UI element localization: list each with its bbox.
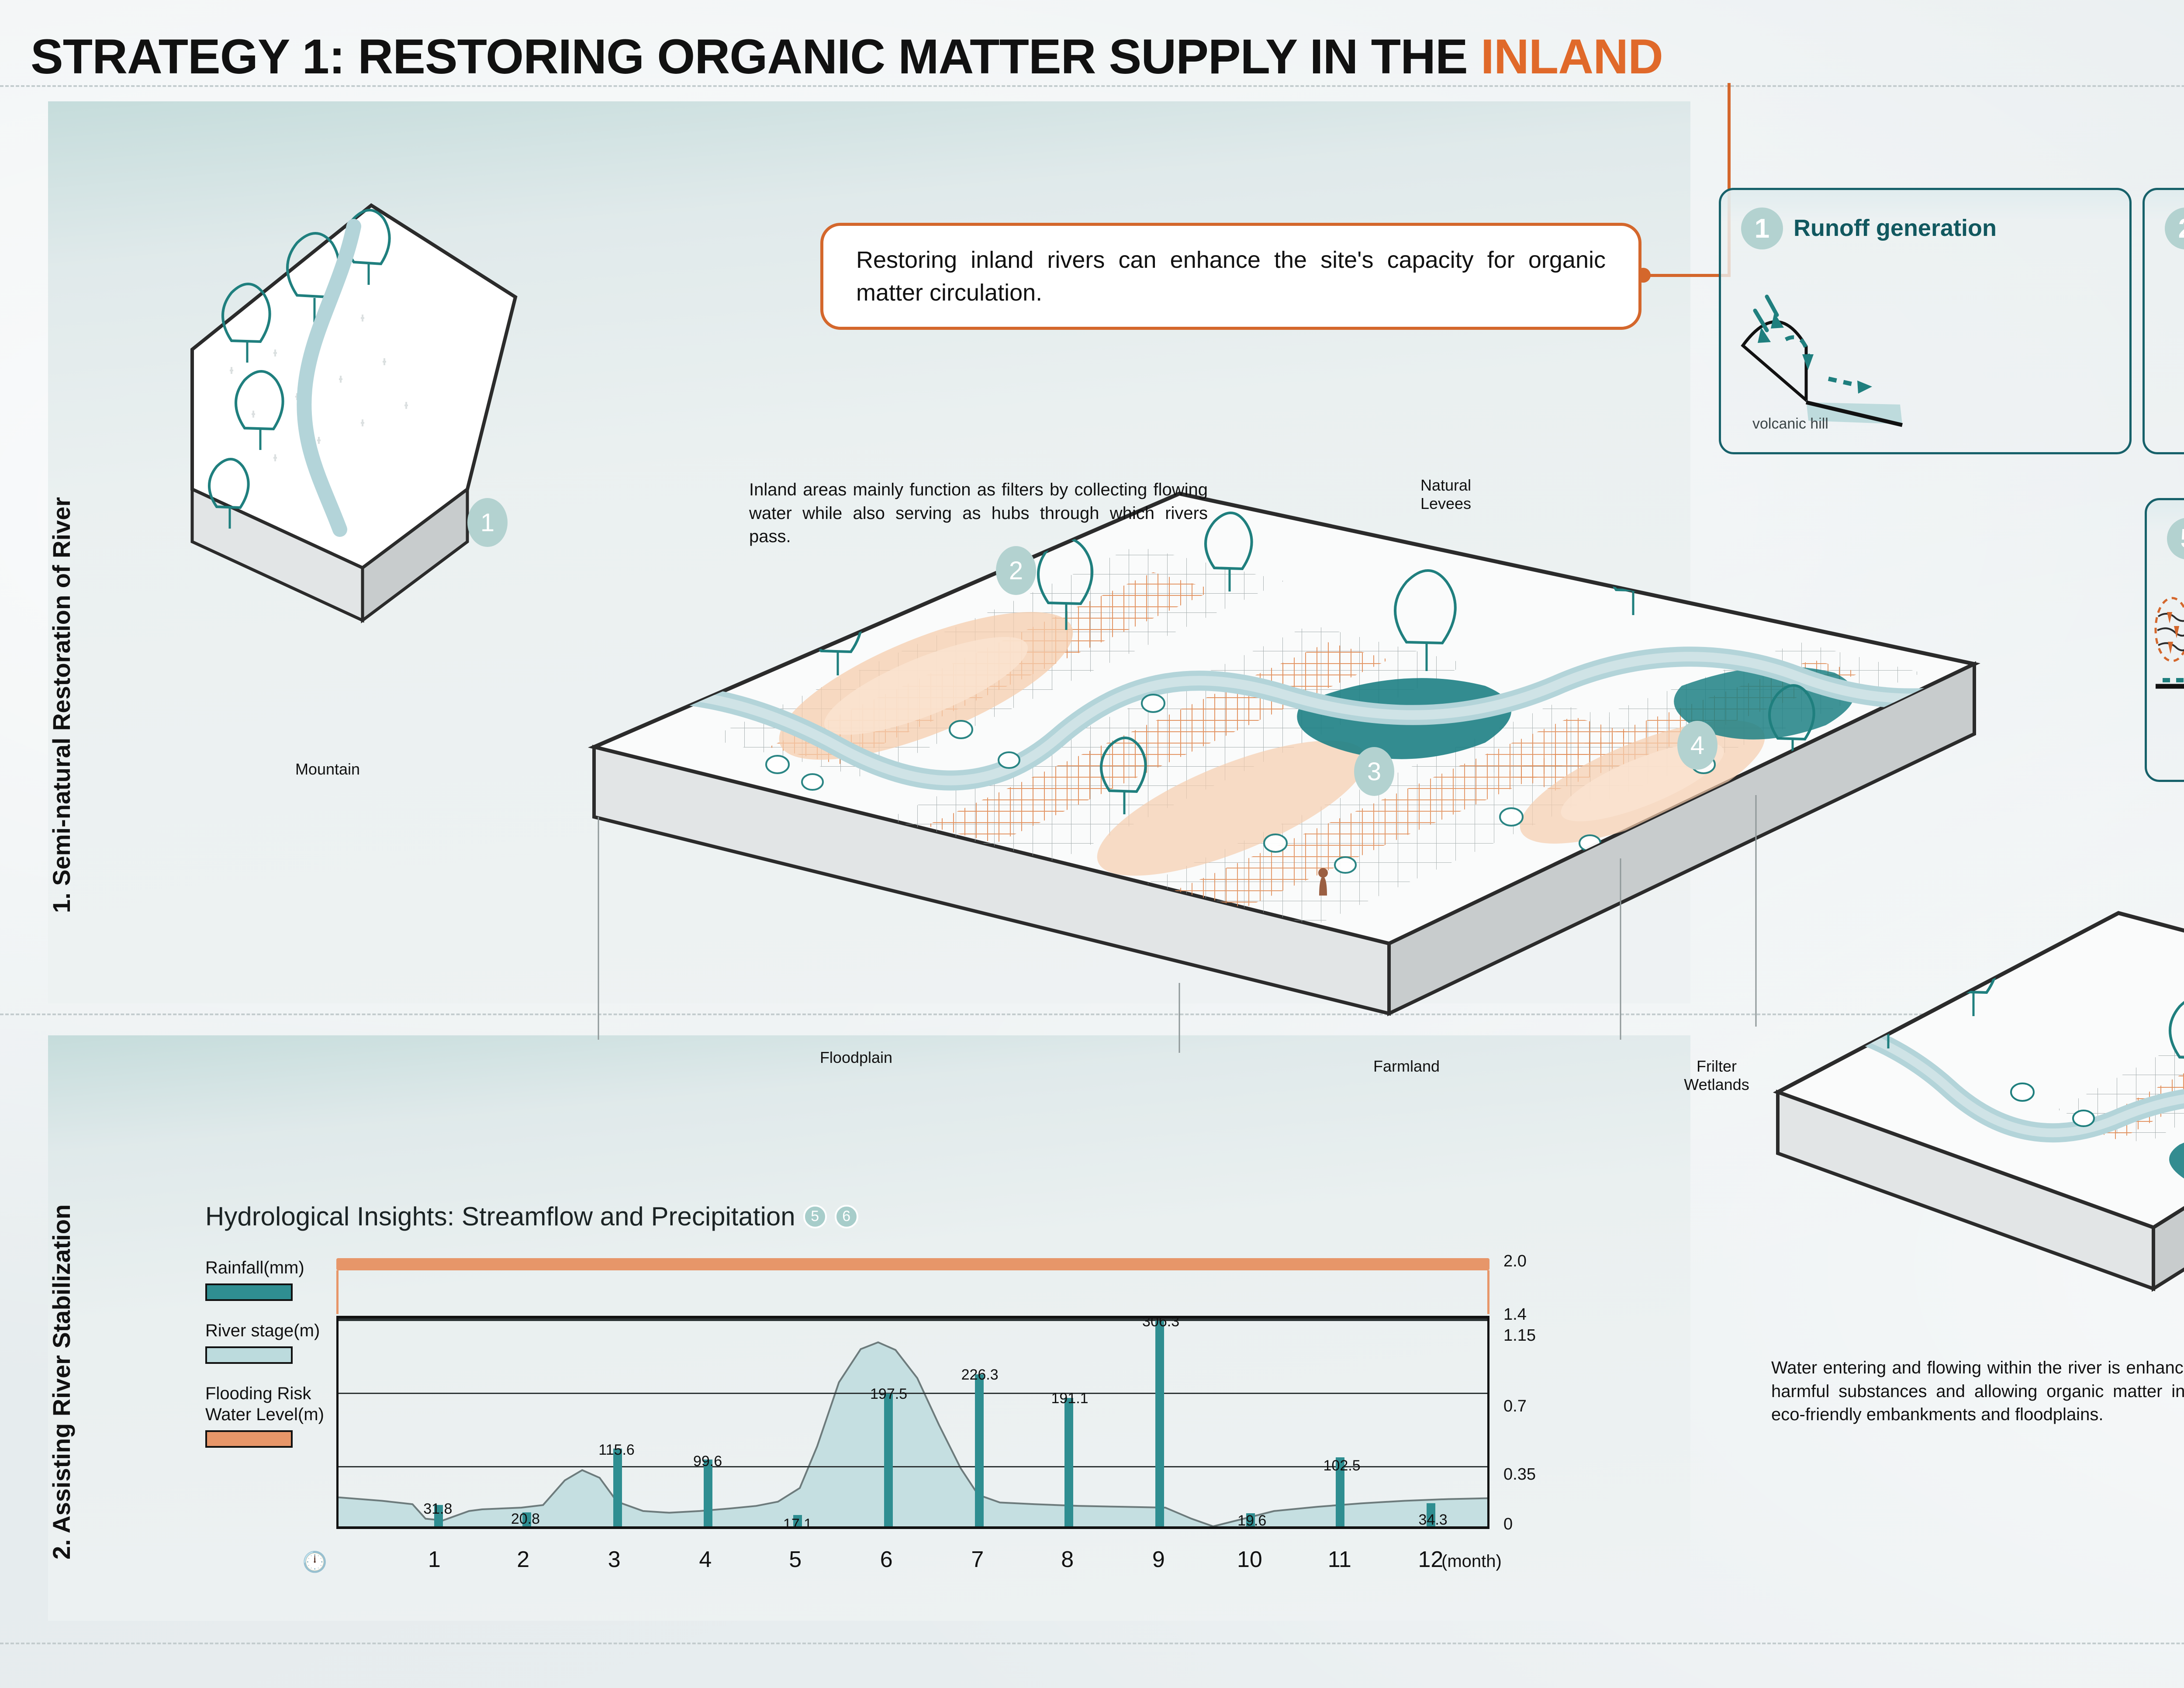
bar-month-7 bbox=[975, 1374, 984, 1526]
step-2-diagram bbox=[2145, 249, 2184, 446]
iso-note-top: Inland areas mainly function as filters … bbox=[749, 478, 1208, 549]
step-panel-2[interactable]: 2 Collected in wetlands bbox=[2143, 188, 2184, 454]
legend-item-rainfall: Rainfall(mm) bbox=[205, 1257, 336, 1301]
page-title-highlight: INLAND bbox=[1481, 29, 1663, 84]
flood-risk-threshold-bar bbox=[336, 1258, 1489, 1270]
legend-label-river-stage: River stage(m) bbox=[205, 1320, 336, 1341]
xtick-9: 9 bbox=[1152, 1546, 1165, 1573]
bar-label-month-1: 31.8 bbox=[423, 1501, 452, 1518]
bar-label-month-4: 99.6 bbox=[693, 1453, 722, 1470]
step-1-header: 1 Runoff generation bbox=[1721, 190, 2129, 249]
section-label-2: 2. Assisting River Stabilization bbox=[47, 1204, 76, 1560]
xtick-2: 2 bbox=[517, 1546, 529, 1573]
step-1-diagram: volcanic hill bbox=[1721, 249, 2129, 446]
bar-label-month-2: 20.8 bbox=[511, 1511, 540, 1528]
ytick-2.0: 2.0 bbox=[1503, 1252, 1527, 1271]
ytick-0: 0 bbox=[1503, 1515, 1513, 1534]
iso-marker-3: 3 bbox=[1354, 747, 1394, 796]
xtick-10: 10 bbox=[1237, 1546, 1262, 1573]
bar-label-month-10: 19.6 bbox=[1237, 1512, 1266, 1529]
xtick-6: 6 bbox=[880, 1546, 893, 1573]
gridline-1.15 bbox=[339, 1393, 1487, 1394]
wetland-diagram-icon bbox=[2145, 249, 2184, 442]
iso-marker-1: 1 bbox=[467, 498, 508, 547]
legend-label-flood-risk: Flooding Risk Water Level(m) bbox=[205, 1383, 332, 1425]
chart-badge-5: 5 bbox=[803, 1205, 827, 1228]
xtick-5: 5 bbox=[789, 1546, 802, 1573]
bar-month-3 bbox=[613, 1449, 622, 1526]
iso-marker-2: 2 bbox=[996, 546, 1036, 595]
bar-month-8 bbox=[1064, 1398, 1073, 1526]
page-title-main: STRATEGY 1: RESTORING ORGANIC MATTER SUP… bbox=[31, 29, 1481, 84]
iso-label-natural-levees: Natural Levees bbox=[1389, 476, 1503, 513]
iso-note-bottom: Water entering and flowing within the ri… bbox=[1771, 1356, 2184, 1427]
iso-label-mountain: Mountain bbox=[266, 760, 389, 778]
chart-legend: Rainfall(mm) River stage(m) Flooding Ris… bbox=[205, 1257, 336, 1467]
chart-badge-6: 6 bbox=[835, 1205, 858, 1228]
legend-label-rainfall: Rainfall(mm) bbox=[205, 1257, 336, 1278]
bar-label-month-5: 17.1 bbox=[783, 1516, 812, 1533]
flood-risk-tick-right bbox=[1487, 1270, 1489, 1314]
step-panel-1[interactable]: 1 Runoff generation volcanic hill bbox=[1719, 188, 2132, 454]
bar-label-month-12: 34.3 bbox=[1419, 1512, 1448, 1529]
legend-swatch-flood-risk bbox=[205, 1430, 293, 1448]
xtick-7: 7 bbox=[971, 1546, 984, 1573]
chart-axes-box bbox=[336, 1316, 1489, 1529]
step-panel-5[interactable]: 5 Filtered through facilities Installati… bbox=[2145, 498, 2184, 782]
step-2-number: 2 bbox=[2165, 208, 2184, 249]
clock-icon: 🕛 bbox=[302, 1550, 327, 1574]
hydrology-chart: Hydrological Insights: Streamflow and Pr… bbox=[205, 1201, 1629, 1577]
mid-block-svg bbox=[1752, 882, 2184, 1341]
natural-levee-section-icon bbox=[2147, 560, 2184, 765]
xtick-11: 11 bbox=[1328, 1546, 1351, 1573]
iso-marker-4: 4 bbox=[1677, 721, 1717, 770]
legend-item-flood-risk: Flooding Risk Water Level(m) bbox=[205, 1383, 336, 1448]
divider-top bbox=[0, 85, 2184, 87]
callout-text: Restoring inland rivers can enhance the … bbox=[856, 244, 1606, 309]
step-5-diagram: Installation of Natural Levees bbox=[2147, 560, 2184, 774]
bar-label-month-9: 306.3 bbox=[1142, 1313, 1179, 1330]
step-1-label-volcanic-hill: volcanic hill bbox=[1752, 415, 1828, 432]
divider-bottom bbox=[0, 1643, 2184, 1644]
step-5-number: 5 bbox=[2167, 518, 2184, 560]
step-1-title: Runoff generation bbox=[1794, 215, 1997, 242]
bar-month-6 bbox=[884, 1394, 893, 1526]
bar-label-month-3: 115.6 bbox=[598, 1442, 635, 1459]
callout-box: Restoring inland rivers can enhance the … bbox=[820, 223, 1641, 330]
flood-risk-tick-left bbox=[336, 1270, 339, 1314]
bar-label-month-8: 191.1 bbox=[1051, 1390, 1088, 1407]
section-label-1: 1. Semi-natural Restoration of River bbox=[47, 497, 76, 913]
chart-title-text: Hydrological Insights: Streamflow and Pr… bbox=[205, 1201, 795, 1231]
bar-label-month-7: 226.3 bbox=[961, 1366, 999, 1384]
xtick-4: 4 bbox=[699, 1546, 712, 1573]
legend-item-river-stage: River stage(m) bbox=[205, 1320, 336, 1364]
gridline-1.4 bbox=[339, 1318, 1487, 1321]
gridline-0.7 bbox=[339, 1466, 1487, 1467]
xtick-12: 12 bbox=[1418, 1546, 1443, 1573]
chart-plot-area: 31.8 20.8 115.6 99.6 17.1 197.5 226.3 19… bbox=[336, 1258, 1489, 1529]
callout-leader-horizontal bbox=[1643, 274, 1731, 277]
iso-label-floodplain: Floodplain bbox=[786, 1048, 926, 1067]
bar-month-9 bbox=[1155, 1321, 1164, 1526]
page-title: STRATEGY 1: RESTORING ORGANIC MATTER SUP… bbox=[31, 28, 1663, 85]
step-2-header: 2 Collected in wetlands bbox=[2145, 190, 2184, 249]
ytick-0.7: 0.7 bbox=[1503, 1397, 1527, 1416]
xaxis-unit-label: (month) bbox=[1441, 1552, 1502, 1571]
bar-label-month-11: 102.5 bbox=[1324, 1457, 1361, 1474]
chart-title: Hydrological Insights: Streamflow and Pr… bbox=[205, 1201, 1629, 1231]
step-5-header: 5 Filtered through facilities bbox=[2147, 500, 2184, 560]
legend-swatch-rainfall bbox=[205, 1283, 293, 1301]
iso-label-farmland: Farmland bbox=[1337, 1057, 1476, 1076]
ytick-0.35: 0.35 bbox=[1503, 1465, 1536, 1484]
ytick-1.15: 1.15 bbox=[1503, 1326, 1536, 1345]
river-stage-area-series bbox=[339, 1318, 1487, 1526]
bar-label-month-6: 197.5 bbox=[870, 1386, 907, 1403]
xtick-1: 1 bbox=[428, 1546, 441, 1573]
runoff-diagram-icon bbox=[1721, 249, 2134, 442]
step-1-number: 1 bbox=[1741, 208, 1783, 249]
xtick-3: 3 bbox=[608, 1546, 621, 1573]
xtick-8: 8 bbox=[1061, 1546, 1074, 1573]
legend-swatch-river-stage bbox=[205, 1346, 293, 1364]
ytick-1.4: 1.4 bbox=[1503, 1305, 1527, 1324]
iso-mid-block: 5 6 bbox=[1752, 882, 2184, 1341]
